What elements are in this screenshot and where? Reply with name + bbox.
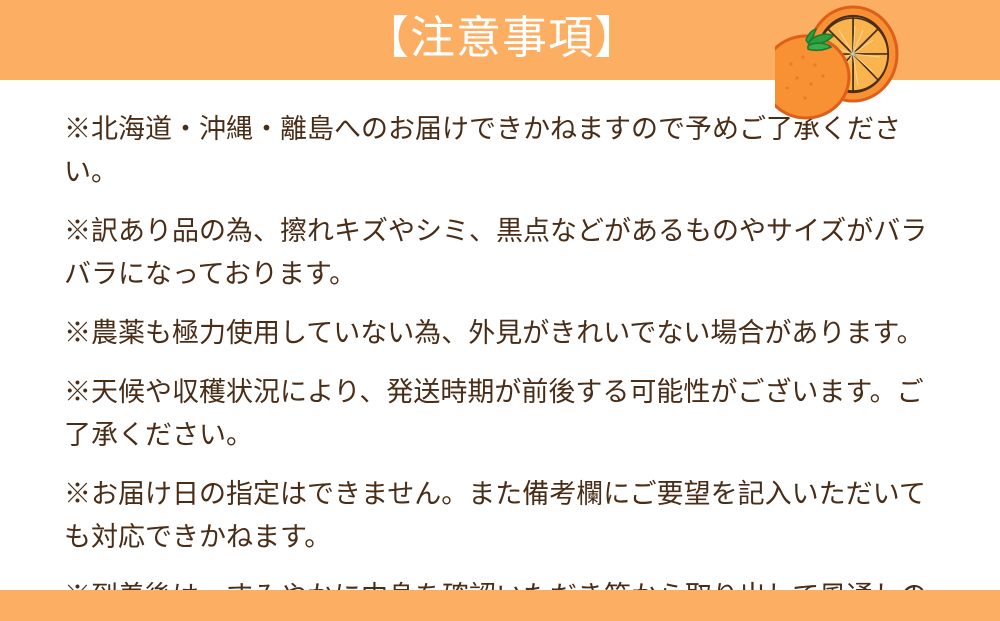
list-item: ※北海道・沖縄・離島へのお届けできかねますので予めご了承ください。	[64, 108, 938, 194]
page-title: 【注意事項】	[0, 0, 1000, 80]
notice-page: 【注意事項】	[0, 0, 1000, 621]
footer-accent-bar	[0, 590, 1000, 621]
list-item: ※天候や収穫状況により、発送時期が前後する可能性がございます。ご了承ください。	[64, 371, 938, 457]
list-item: ※訳あり品の為、擦れキズやシミ、黒点などがあるものやサイズがバラバラになっており…	[64, 210, 938, 296]
list-item: ※お届け日の指定はできません。また備考欄にご要望を記入いただいても対応できかねま…	[64, 473, 938, 559]
notice-list: ※北海道・沖縄・離島へのお届けできかねますので予めご了承ください。 ※訳あり品の…	[0, 80, 1000, 590]
header-banner: 【注意事項】	[0, 0, 1000, 80]
list-item: ※農薬も極力使用していない為、外見がきれいでない場合があります。	[64, 312, 938, 355]
